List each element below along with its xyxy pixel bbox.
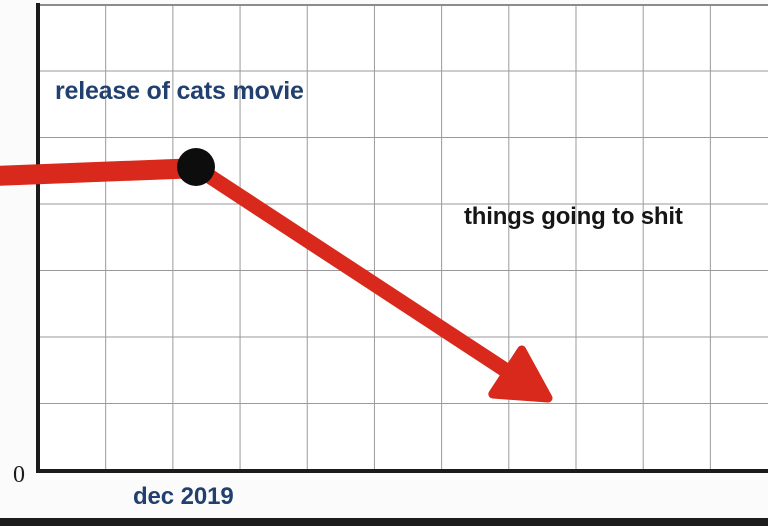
bottom-letterbox-band [0,518,768,526]
graph-paper-plot-area [39,5,768,471]
meme-chart-image: 0 release of cats movie things going to … [0,0,768,526]
x-axis-label: dec 2019 [133,483,234,511]
annotation-things-going-to-shit: things going to shit [464,203,683,231]
axis-origin-label: 0 [13,463,25,487]
plot-top-border [39,4,768,6]
x-axis-line [36,469,768,473]
annotation-release-of-cats-movie: release of cats movie [55,77,304,106]
y-axis-line [36,3,40,473]
